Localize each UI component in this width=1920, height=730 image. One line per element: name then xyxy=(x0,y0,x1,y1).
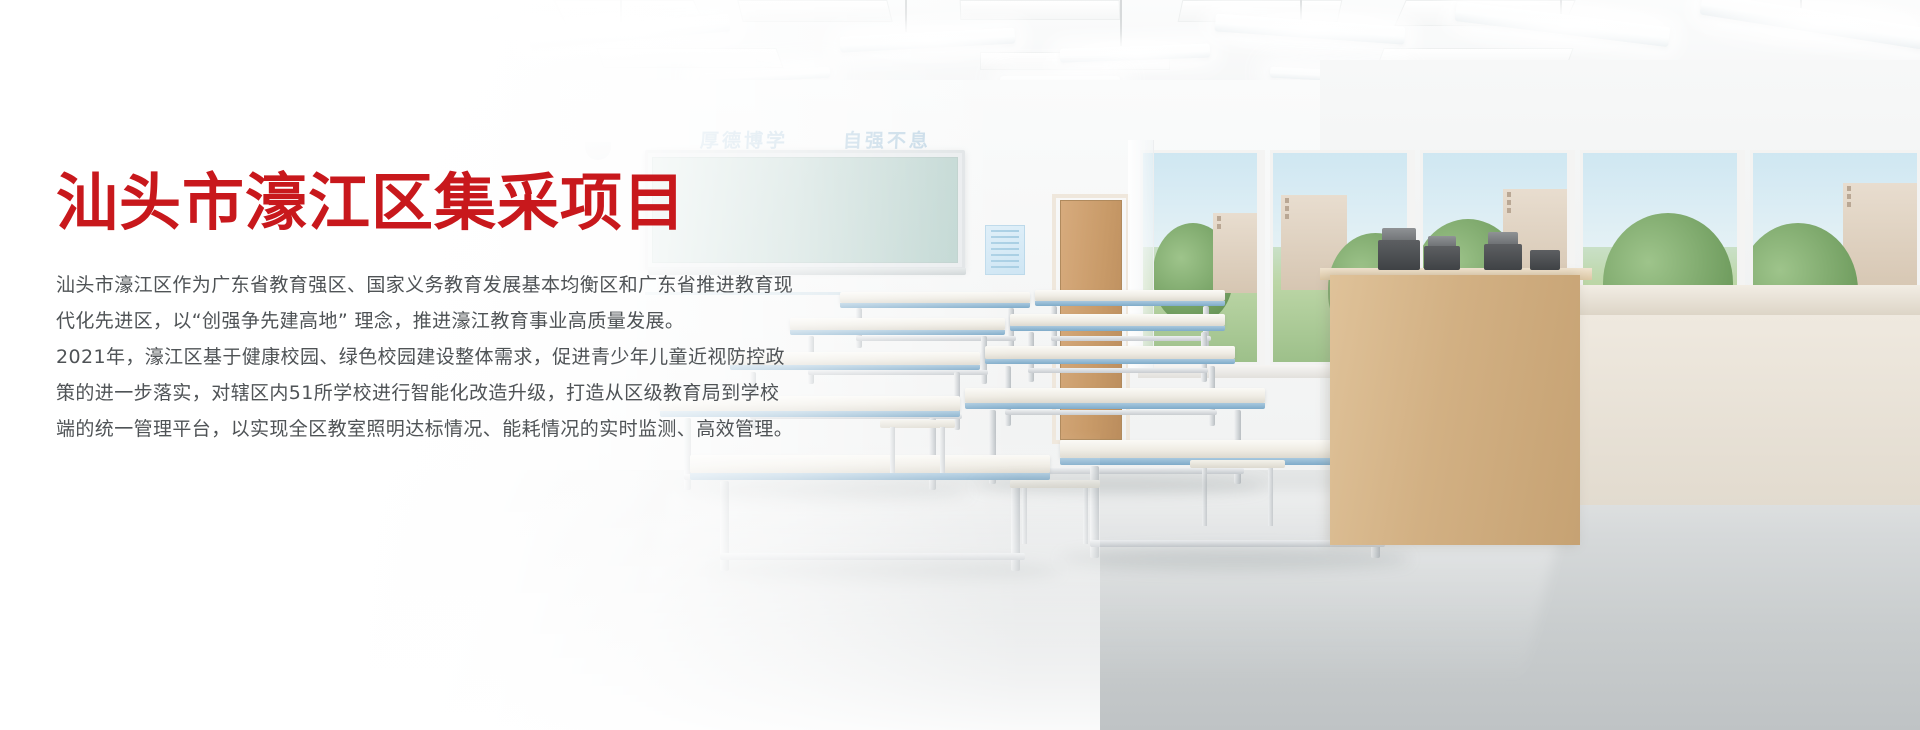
bottom-fade-overlay xyxy=(0,430,1100,730)
equipment-box xyxy=(1378,240,1420,270)
side-counter-body xyxy=(1575,315,1920,505)
hero-copy: 汕头市濠江区集采项目 汕头市濠江区作为广东省教育强区、国家义务教育发展基本均衡区… xyxy=(56,168,856,447)
description-line: 汕头市濠江区作为广东省教育强区、国家义务教育发展基本均衡区和广东省推进教育现 xyxy=(56,267,856,303)
window-mullion xyxy=(1260,150,1265,365)
page-title: 汕头市濠江区集采项目 xyxy=(56,168,856,237)
equipment-box xyxy=(1484,244,1522,270)
equipment-box xyxy=(1424,246,1460,270)
desk-shadow xyxy=(1060,548,1410,570)
light-glow xyxy=(1195,4,1430,58)
student-chair xyxy=(1190,460,1285,530)
equipment-box xyxy=(1530,250,1560,270)
side-counter-top xyxy=(1575,285,1920,315)
description-line: 端的统一管理平台，以实现全区教室照明达标情况、能耗情况的实时监测、高效管理。 xyxy=(56,411,856,447)
description-line: 2021年，濠江区基于健康校园、绿色校园建设整体需求，促进青少年儿童近视防控政 xyxy=(56,339,856,375)
teacher-cabinet xyxy=(1330,275,1580,545)
hero-banner: 厚德博学 自强不息 xyxy=(0,0,1920,730)
hero-description: 汕头市濠江区作为广东省教育强区、国家义务教育发展基本均衡区和广东省推进教育现 代… xyxy=(56,267,856,447)
description-line: 策的进一步落实，对辖区内51所学校进行智能化改造升级，打造从区级教育局到学校 xyxy=(56,375,856,411)
description-line: 代化先进区，以“创强争先建高地” 理念，推进濠江教育事业高质量发展。 xyxy=(56,303,856,339)
